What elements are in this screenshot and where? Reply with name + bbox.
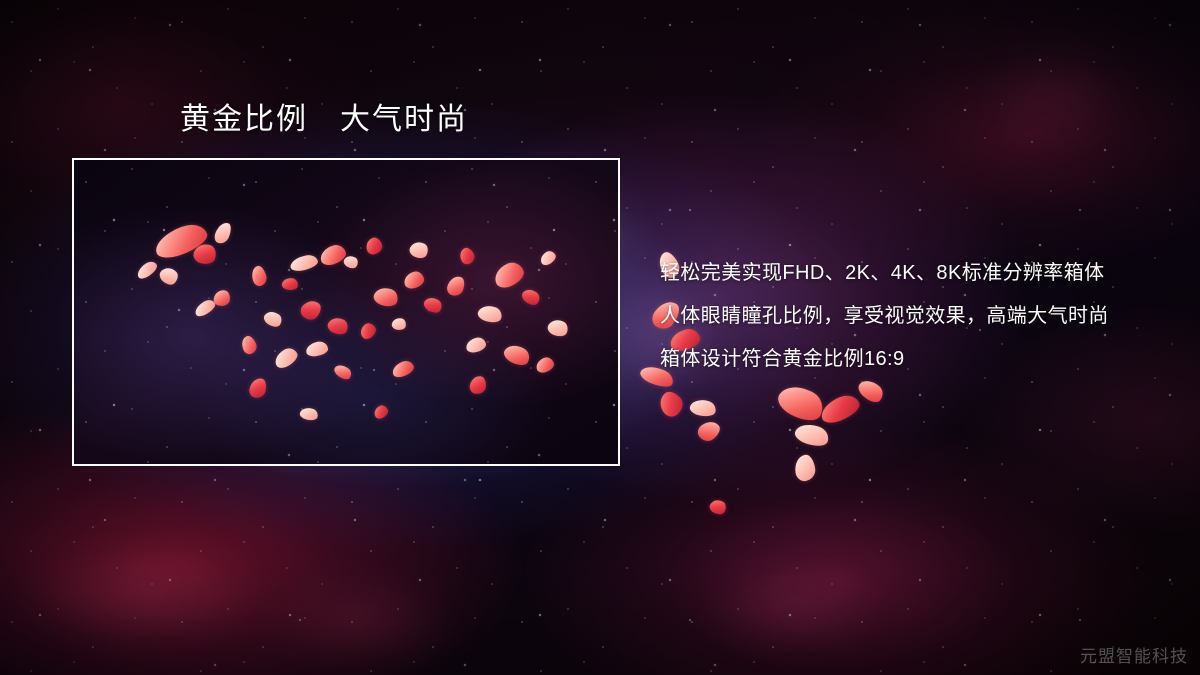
framed-image-panel <box>72 158 620 466</box>
presentation-slide: 黄金比例 大气时尚 轻松完美实现FHD、2K、4K、8K标准分辨率箱体 人体眼睛… <box>0 0 1200 675</box>
body-line-3: 箱体设计符合黄金比例16:9 <box>660 338 1160 381</box>
flower-petal-icon <box>655 388 687 421</box>
flower-petal-icon <box>708 497 729 517</box>
body-copy-block: 轻松完美实现FHD、2K、4K、8K标准分辨率箱体 人体眼睛瞳孔比例，享受视觉效… <box>660 252 1160 381</box>
flower-petal-icon <box>817 391 862 426</box>
frame-nebula-background <box>74 160 618 464</box>
flower-petal-icon <box>695 417 723 445</box>
watermark-label: 元盟智能科技 <box>1080 642 1188 667</box>
flower-petal-icon <box>793 420 832 450</box>
body-line-1: 轻松完美实现FHD、2K、4K、8K标准分辨率箱体 <box>660 252 1160 295</box>
body-line-2: 人体眼睛瞳孔比例，享受视觉效果，高端大气时尚 <box>660 295 1160 338</box>
page-title: 黄金比例 大气时尚 <box>180 102 468 138</box>
flower-petal-icon <box>689 397 718 418</box>
flower-petal-icon <box>774 379 829 427</box>
flower-petal-icon <box>793 454 816 483</box>
